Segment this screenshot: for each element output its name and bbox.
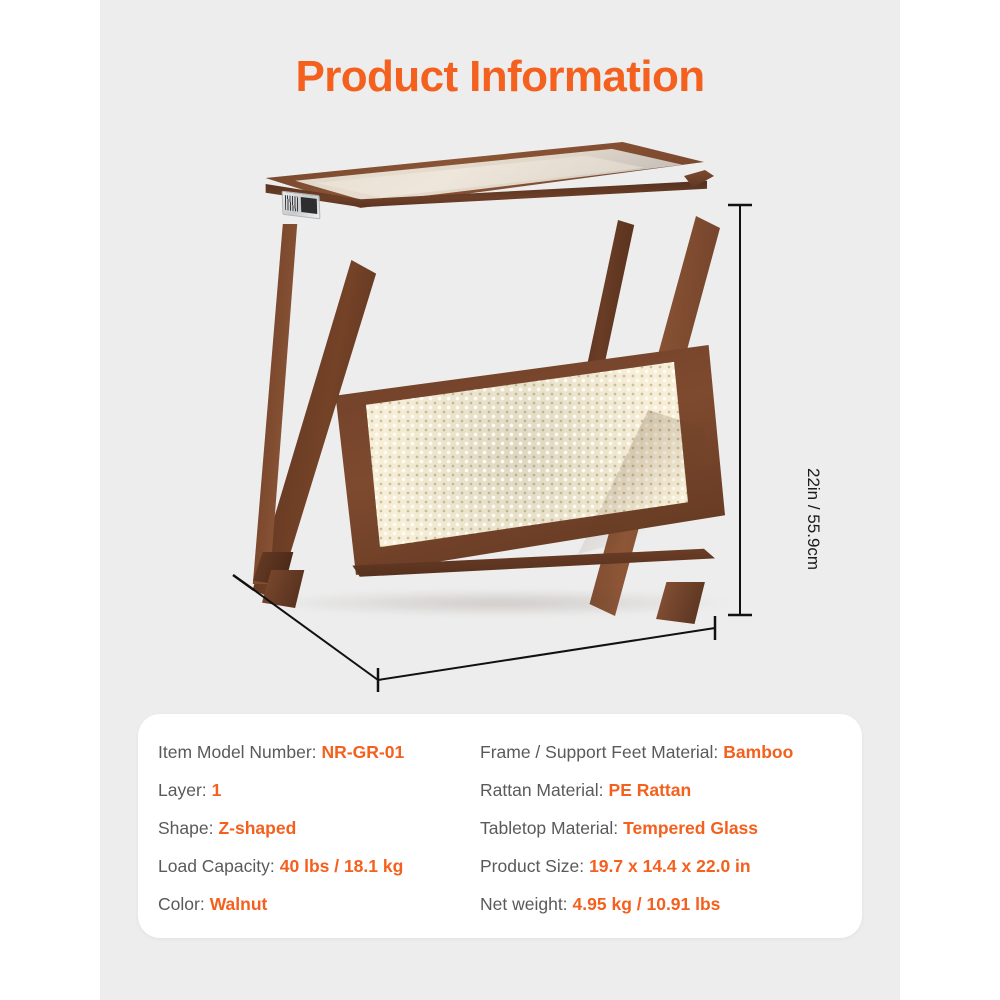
spec-label: Rattan Material: xyxy=(480,780,604,801)
spec-label: Tabletop Material: xyxy=(480,818,618,839)
specifications-card: Item Model Number: NR-GR-01 Layer: 1 Sha… xyxy=(138,714,862,938)
spec-row: Rattan Material: PE Rattan xyxy=(480,780,862,818)
spec-row: Shape: Z-shaped xyxy=(158,818,468,856)
spec-value: NR-GR-01 xyxy=(322,742,405,763)
spec-column-right: Frame / Support Feet Material: Bamboo Ra… xyxy=(468,728,862,938)
spec-label: Frame / Support Feet Material: xyxy=(480,742,718,763)
spec-row: Color: Walnut xyxy=(158,894,468,932)
spec-label: Load Capacity: xyxy=(158,856,275,877)
spec-row: Frame / Support Feet Material: Bamboo xyxy=(480,742,862,780)
dimension-height-label: 22in / 55.9cm xyxy=(803,468,823,570)
spec-value: Walnut xyxy=(210,894,268,915)
spec-value: Z-shaped xyxy=(218,818,296,839)
spec-value: 4.95 kg / 10.91 lbs xyxy=(573,894,721,915)
spec-row: Net weight: 4.95 kg / 10.91 lbs xyxy=(480,894,862,932)
spec-row: Tabletop Material: Tempered Glass xyxy=(480,818,862,856)
spec-label: Shape: xyxy=(158,818,213,839)
spec-value: PE Rattan xyxy=(609,780,692,801)
spec-value: 1 xyxy=(212,780,222,801)
dimension-lines xyxy=(100,120,900,700)
spec-label: Product Size: xyxy=(480,856,584,877)
spec-label: Color: xyxy=(158,894,205,915)
spec-column-left: Item Model Number: NR-GR-01 Layer: 1 Sha… xyxy=(138,728,468,938)
spec-row: Layer: 1 xyxy=(158,780,468,818)
spec-label: Layer: xyxy=(158,780,207,801)
spec-label: Item Model Number: xyxy=(158,742,317,763)
spec-value: Tempered Glass xyxy=(623,818,758,839)
page-title: Product Information xyxy=(0,52,1000,102)
spec-value: 19.7 x 14.4 x 22.0 in xyxy=(589,856,751,877)
spec-value: 40 lbs / 18.1 kg xyxy=(280,856,404,877)
spec-row: Item Model Number: NR-GR-01 xyxy=(158,742,468,780)
spec-value: Bamboo xyxy=(723,742,793,763)
spec-row: Product Size: 19.7 x 14.4 x 22.0 in xyxy=(480,856,862,894)
spec-label: Net weight: xyxy=(480,894,568,915)
product-image: 22in / 55.9cm 19.7in / 50cm 14.4in / 36.… xyxy=(100,120,900,700)
spec-row: Load Capacity: 40 lbs / 18.1 kg xyxy=(158,856,468,894)
